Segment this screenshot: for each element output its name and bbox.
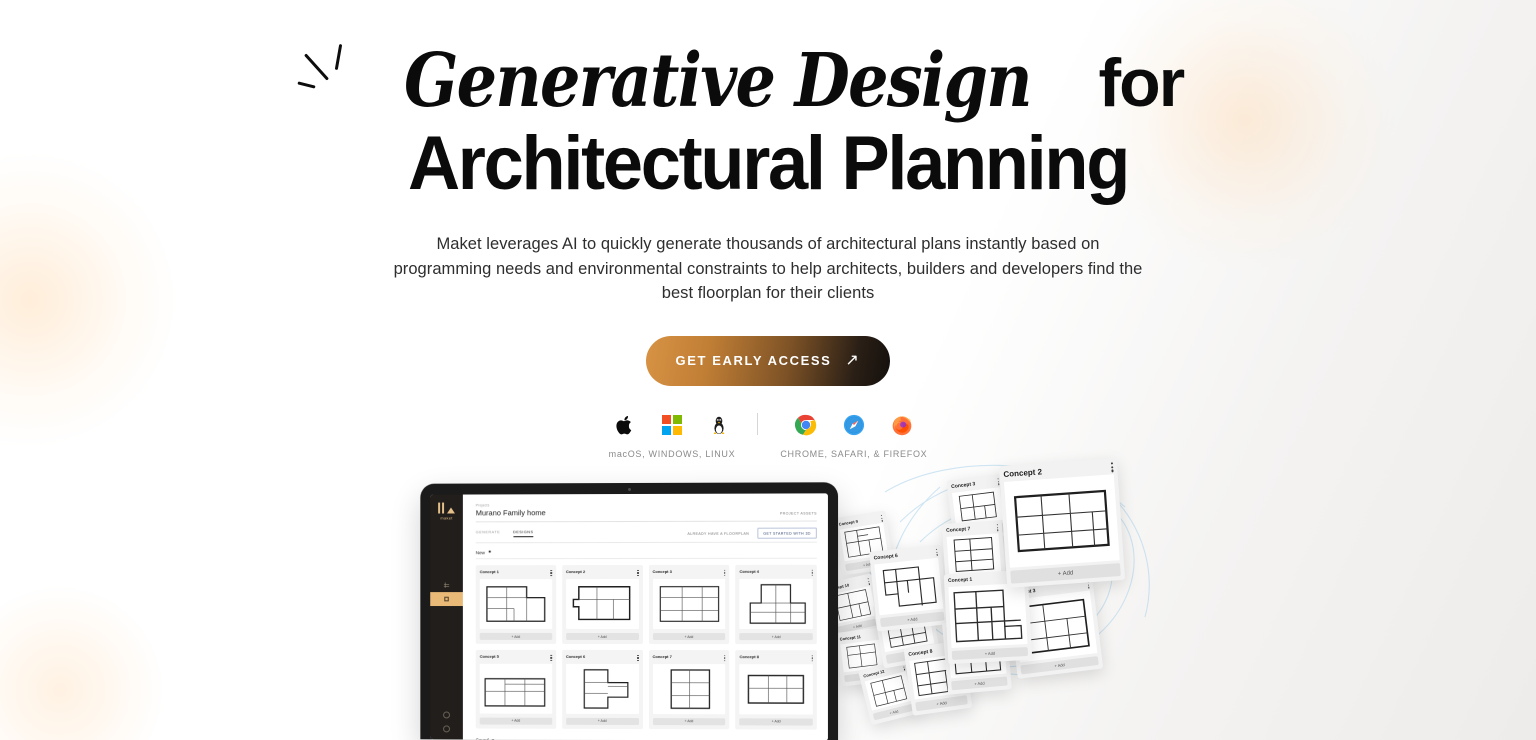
section-header-new: New ✷: [476, 549, 817, 556]
project-assets-link[interactable]: PROJECT ASSETS: [780, 511, 817, 516]
kebab-menu-icon[interactable]: [996, 524, 998, 531]
get-early-access-button[interactable]: GET EARLY ACCESS ↗: [646, 336, 891, 386]
concept-card[interactable]: Concept 8 + Add: [735, 650, 816, 729]
add-button[interactable]: + Add: [952, 647, 1028, 660]
linux-icon: [708, 414, 730, 436]
concept-card[interactable]: Concept 7 + Add: [648, 650, 729, 729]
floorplan-thumbnail: [740, 664, 813, 714]
os-icon-list: [614, 410, 730, 440]
add-button[interactable]: + Add: [652, 718, 725, 725]
kebab-menu-icon[interactable]: [867, 578, 870, 585]
sparkle-icon: [301, 40, 357, 96]
floating-card-title: Concept 7: [946, 524, 998, 534]
cta-container: GET EARLY ACCESS ↗: [0, 336, 1536, 386]
sidebar-item-generate[interactable]: [430, 578, 463, 592]
sparkle-section-icon: ✷: [488, 549, 492, 555]
add-button[interactable]: + Add: [566, 718, 639, 725]
tablet-device: maket Pr: [420, 482, 838, 740]
app-main: Projects Murano Family home PROJECT ASSE…: [463, 493, 828, 740]
kebab-menu-icon[interactable]: [551, 654, 552, 661]
add-button[interactable]: + Add: [480, 718, 552, 725]
hero-section: Generative Design for Architectural Plan…: [0, 0, 1536, 459]
help-icon[interactable]: [443, 711, 450, 718]
floorplan-drawing-icon: [1004, 474, 1120, 567]
concept-card-header: Concept 1: [480, 569, 552, 576]
sidebar-item-designs[interactable]: [430, 592, 463, 606]
tab-generate[interactable]: GENERATE: [476, 530, 500, 537]
header-divider: [476, 521, 817, 523]
floorplan-drawing-icon: [948, 583, 1027, 648]
floorplan-thumbnail: [874, 558, 943, 615]
concept-card[interactable]: Concept 2 + Add: [562, 565, 643, 644]
header-actions: ALREADY HAVE A FLOORPLAN GET STARTED WIT…: [687, 528, 816, 540]
floating-card[interactable]: Concept 6 + Add: [869, 544, 949, 631]
browser-icon-list: [795, 410, 913, 440]
headline-rest-part: for: [1082, 45, 1184, 121]
safari-icon: [843, 414, 865, 436]
arrow-up-right-icon: ↗: [845, 353, 860, 369]
concept-card-header: Concept 7: [652, 654, 725, 661]
floorplan-thumbnail: [566, 664, 639, 714]
kebab-menu-icon[interactable]: [811, 569, 812, 576]
floorplan-drawing-icon: [740, 664, 813, 714]
kebab-menu-icon[interactable]: [724, 654, 725, 661]
generate-icon: [442, 581, 451, 589]
kebab-menu-icon[interactable]: [880, 515, 882, 522]
chrome-icon: [795, 414, 817, 436]
concept-card[interactable]: Concept 3 + Add: [648, 565, 729, 644]
concept-title: Concept 6: [566, 654, 585, 659]
floorplan-drawing-icon: [874, 558, 943, 615]
floorplan-drawing-icon: [652, 579, 725, 629]
section-divider: [476, 558, 817, 559]
concept-card[interactable]: Concept 6 + Add: [562, 650, 643, 729]
floorplan-thumbnail: [947, 533, 1002, 576]
maket-logo-icon: [438, 503, 455, 514]
add-button[interactable]: + Add: [652, 633, 725, 640]
concept-title: Concept 5: [480, 654, 499, 659]
product-mockup: Concept 9 + Add Concept 10 + Add Concept…: [0, 452, 1536, 740]
settings-gear-icon[interactable]: [443, 725, 450, 732]
add-button[interactable]: + Add: [740, 718, 813, 725]
camera-dot-icon: [628, 488, 631, 491]
concept-card-header: Concept 5: [480, 654, 552, 661]
concept-title: Concept 1: [480, 569, 499, 574]
sidebar-bottom-actions: [430, 711, 463, 732]
floorplan-drawing-icon: [480, 579, 552, 629]
kebab-menu-icon[interactable]: [1111, 462, 1114, 472]
kebab-menu-icon[interactable]: [936, 549, 938, 556]
concept-card-header: Concept 3: [652, 569, 725, 576]
kebab-menu-icon[interactable]: [1087, 582, 1089, 589]
app-sidebar: maket: [430, 495, 463, 740]
concept-card[interactable]: Concept 1 + Add: [476, 565, 556, 644]
floorplan-thumbnail: [652, 664, 725, 714]
headline-line-2: Architectural Planning: [408, 122, 1128, 206]
platform-divider: [757, 413, 758, 435]
headline-line-1: Generative Design for: [353, 42, 1183, 122]
concept-card-header: Concept 4: [740, 569, 813, 576]
concept-title: Concept 4: [740, 569, 759, 574]
floorplan-thumbnail: [480, 664, 552, 714]
headline-serif-part: Generative Design: [404, 42, 1031, 120]
add-button[interactable]: + Add: [480, 633, 552, 640]
landing-page: Generative Design for Architectural Plan…: [0, 0, 1536, 740]
concept-title: Concept 3: [652, 569, 671, 574]
concept-title: Concept 7: [652, 654, 671, 659]
page-title: Generative Design for Architectural Plan…: [353, 42, 1183, 206]
tabs-divider: [476, 542, 817, 544]
section-title-new: New: [476, 550, 485, 555]
concept-card-header: Concept 8: [740, 654, 813, 661]
tab-designs[interactable]: DESIGNS: [513, 530, 533, 537]
add-button[interactable]: + Add: [740, 633, 813, 640]
kebab-menu-icon[interactable]: [724, 569, 725, 576]
project-header: Murano Family home PROJECT ASSETS: [476, 506, 817, 517]
designs-icon: [442, 595, 451, 603]
floorplan-thumbnail: [1004, 474, 1120, 567]
apple-icon: [614, 414, 636, 436]
windows-icon: [662, 415, 682, 435]
maket-logo-text: maket: [440, 515, 452, 520]
concept-card[interactable]: Concept 5 + Add: [476, 650, 556, 729]
add-button[interactable]: + Add: [951, 676, 1008, 690]
floorplan-drawing-icon: [652, 664, 725, 714]
hero-subtitle: Maket leverages AI to quickly generate t…: [388, 232, 1148, 306]
kebab-menu-icon[interactable]: [811, 654, 812, 661]
concept-card-header: Concept 6: [566, 654, 639, 661]
concept-grid-row-2: Concept 5 + Add Concept 6: [476, 650, 817, 730]
floorplan-drawing-icon: [947, 533, 1002, 576]
project-title: Murano Family home: [476, 508, 546, 517]
add-button[interactable]: + Add: [566, 633, 639, 640]
concept-grid-row-1: Concept 1 + Add Concept 2: [476, 565, 817, 644]
floorplan-thumbnail: [566, 579, 639, 629]
firefox-icon: [891, 414, 913, 436]
concept-card-header: Concept 2: [566, 569, 639, 576]
concept-card[interactable]: Concept 4 + Add: [735, 565, 816, 644]
floorplan-thumbnail: [652, 579, 725, 629]
concept-title: Concept 8: [740, 654, 759, 659]
floorplan-drawing-icon: [566, 664, 639, 714]
floorplan-thumbnail: [480, 579, 552, 629]
kebab-menu-icon[interactable]: [551, 569, 552, 576]
floorplan-drawing-icon: [480, 664, 552, 714]
floating-card[interactable]: Concept 2 + Add: [999, 458, 1125, 588]
floorplan-thumbnail: [740, 579, 813, 629]
concept-title: Concept 2: [566, 569, 585, 574]
tabs-row: GENERATE DESIGNS ALREADY HAVE A FLOORPLA…: [476, 528, 817, 540]
app-screen: maket Pr: [430, 493, 828, 740]
tab-list: GENERATE DESIGNS: [476, 530, 534, 537]
kebab-menu-icon[interactable]: [637, 654, 638, 661]
floorplan-thumbnail: [948, 583, 1027, 648]
floorplan-drawing-icon: [740, 579, 813, 629]
already-have-floorplan-link[interactable]: ALREADY HAVE A FLOORPLAN: [687, 531, 749, 535]
cta-label: GET EARLY ACCESS: [676, 353, 832, 368]
kebab-menu-icon[interactable]: [637, 569, 638, 576]
floorplan-drawing-icon: [566, 579, 639, 629]
get-started-3d-button[interactable]: GET STARTED WITH 3D: [757, 528, 817, 539]
